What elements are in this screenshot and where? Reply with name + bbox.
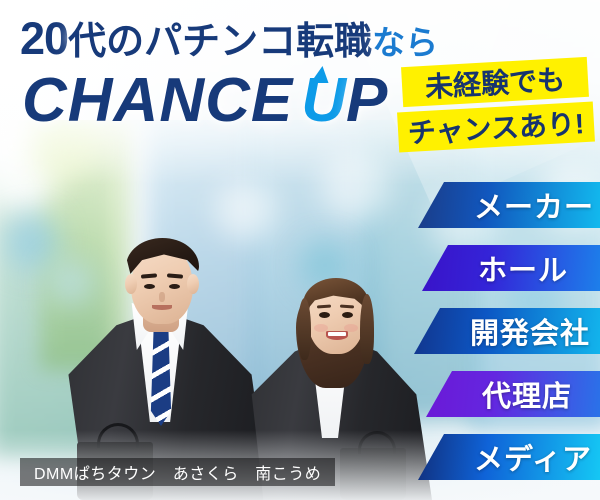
- caption-text: DMMぱちタウン あさくら 南こうめ: [34, 460, 321, 484]
- category-banner-2[interactable]: ホール: [422, 245, 600, 291]
- category-banner-1[interactable]: メーカー: [418, 182, 600, 228]
- advertisement-banner[interactable]: 20代のパチンコ転職なら CHANCE UP 未経験でも チャンスあり! メーカ…: [0, 0, 600, 500]
- category-banner-5[interactable]: メディア: [418, 434, 600, 480]
- category-banner-3[interactable]: 開発会社: [414, 308, 600, 354]
- category-label: 開発会社: [470, 310, 590, 352]
- category-list: メーカーホール開発会社代理店メディア: [0, 0, 600, 500]
- category-label: メーカー: [474, 184, 594, 226]
- category-label: メディア: [474, 436, 592, 478]
- category-label: 代理店: [482, 373, 572, 415]
- category-banner-4[interactable]: 代理店: [426, 371, 600, 417]
- category-label: ホール: [478, 247, 568, 289]
- caption-bar: DMMぱちタウン あさくら 南こうめ: [20, 458, 335, 486]
